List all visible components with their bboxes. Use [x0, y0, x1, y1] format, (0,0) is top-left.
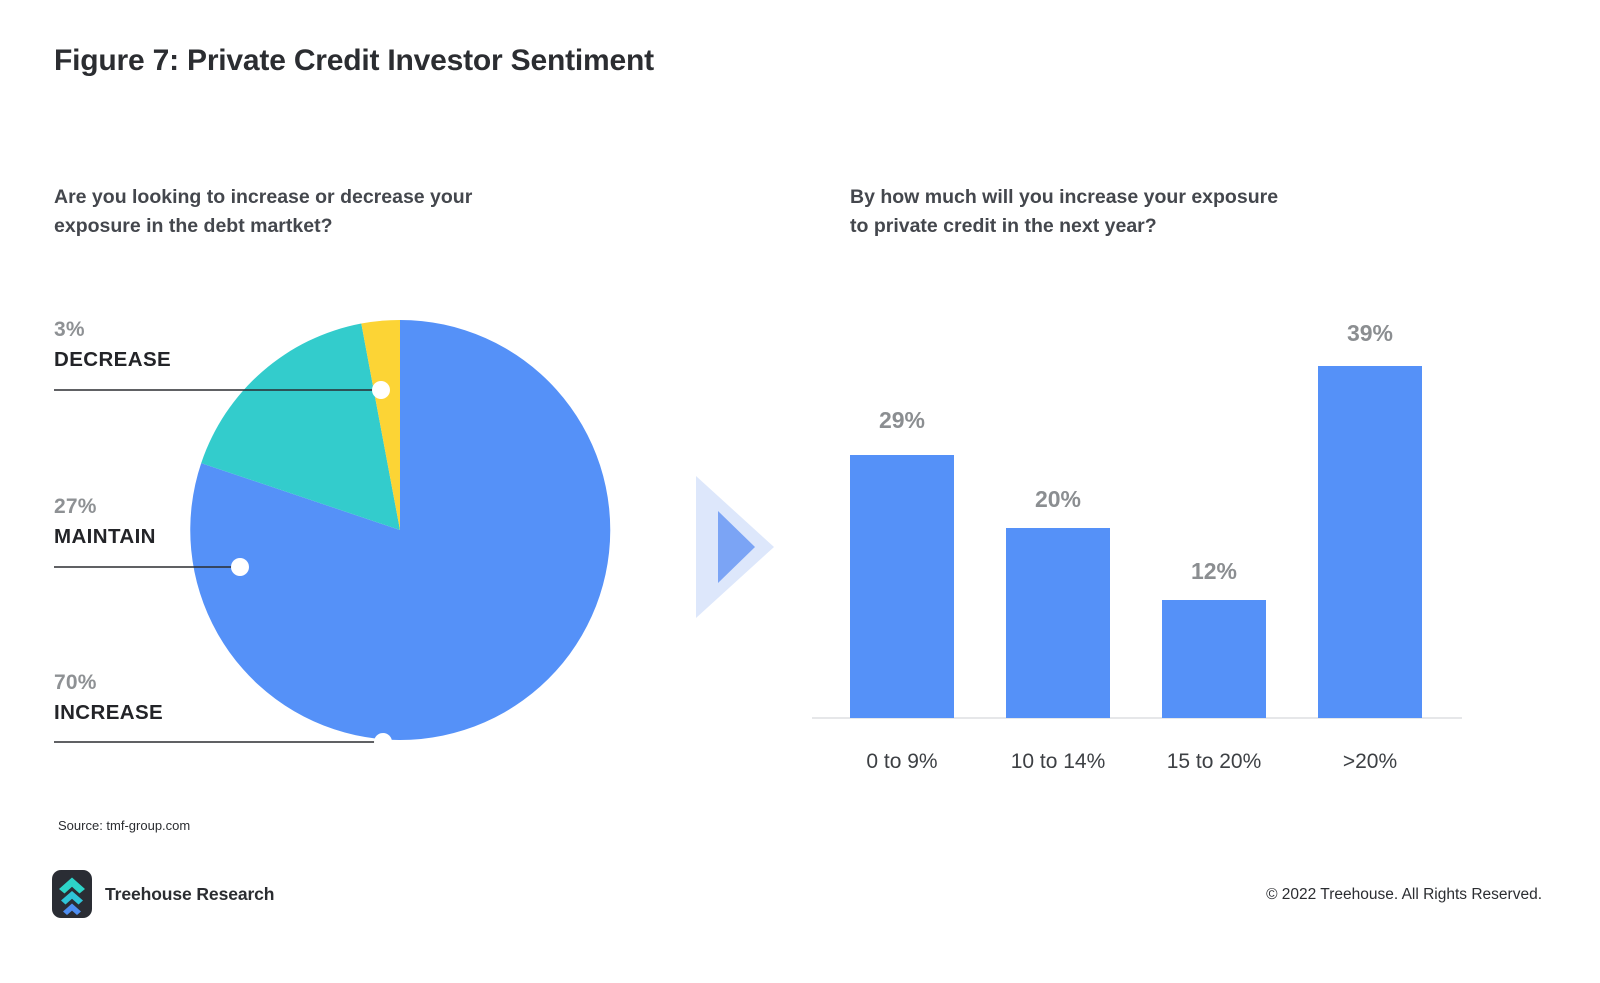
bar-category-10-to-14: 10 to 14% — [1011, 750, 1106, 774]
bar-value-10-to-14: 20% — [1035, 486, 1081, 513]
bar-category-0-to-9: 0 to 9% — [866, 750, 937, 774]
play-arrow-icon — [690, 472, 780, 622]
footer-brand: Treehouse Research — [52, 870, 274, 918]
pie-callout-decrease: 3% DECREASE — [54, 315, 171, 375]
right-panel-question: By how much will you increase your expos… — [850, 183, 1410, 241]
bar-15-to-20 — [1162, 600, 1266, 718]
pie-callout-maintain: 27% MAINTAIN — [54, 492, 156, 552]
pie-slices — [190, 320, 610, 740]
bar-category-15-to-20: 15 to 20% — [1167, 750, 1262, 774]
bar-0-to-9 — [850, 455, 954, 718]
pie-callout-decrease-label: DECREASE — [54, 345, 171, 375]
bar-10-to-14 — [1006, 528, 1110, 718]
brand-name: Treehouse Research — [105, 884, 274, 905]
bars — [850, 366, 1422, 718]
figure-canvas: Figure 7: Private Credit Investor Sentim… — [0, 0, 1600, 983]
treehouse-logo-icon — [52, 870, 92, 918]
pie-callout-increase-label: INCREASE — [54, 698, 163, 728]
pie-callout-increase-percent: 70% — [54, 668, 163, 698]
pie-callout-increase: 70% INCREASE — [54, 668, 163, 728]
bar-value-15-to-20: 12% — [1191, 558, 1237, 585]
copyright-notice: © 2022 Treehouse. All Rights Reserved. — [1266, 886, 1542, 904]
bar-category-over-20: >20% — [1343, 750, 1397, 774]
bar-value-over-20: 39% — [1347, 320, 1393, 347]
bar-chart: 29% 20% 12% 39% 0 to 9% 10 to 14% 15 to … — [810, 300, 1490, 810]
pie-callout-maintain-label: MAINTAIN — [54, 522, 156, 552]
bar-chart-svg — [810, 300, 1490, 810]
left-panel-question: Are you looking to increase or decrease … — [54, 183, 614, 241]
pie-callout-decrease-percent: 3% — [54, 315, 171, 345]
pie-callout-maintain-percent: 27% — [54, 492, 156, 522]
bar-value-0-to-9: 29% — [879, 407, 925, 434]
leader-dot-maintain — [231, 558, 249, 576]
source-note: Source: tmf-group.com — [58, 818, 190, 833]
page-title: Figure 7: Private Credit Investor Sentim… — [54, 44, 654, 78]
bar-over-20 — [1318, 366, 1422, 718]
leader-dot-decrease — [372, 381, 390, 399]
leader-dot-increase — [374, 733, 392, 751]
